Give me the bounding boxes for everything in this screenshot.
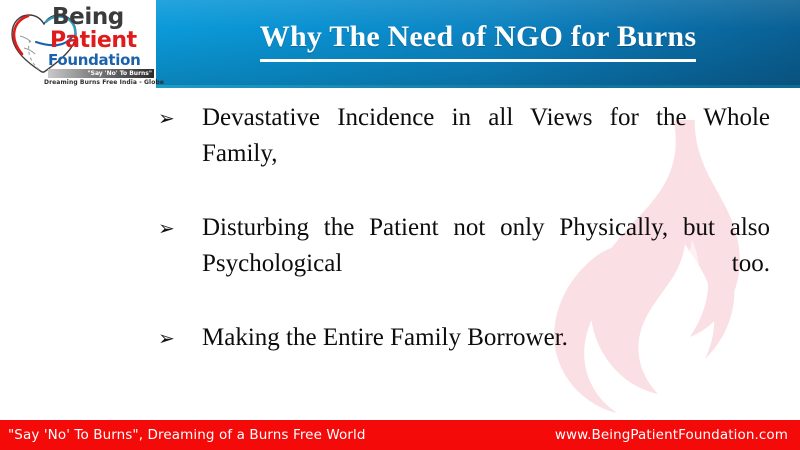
arrow-bullet-icon: ➢ — [158, 320, 202, 356]
logo-slogan-bar: "Say 'No' To Burns" — [48, 69, 154, 78]
logo-tagline: Dreaming Burns Free India - Globe — [44, 79, 156, 86]
brand-logo: Being Patient Foundation "Say 'No' To Bu… — [0, 0, 156, 88]
arrow-bullet-icon: ➢ — [158, 100, 202, 136]
footer-website-url[interactable]: www.BeingPatientFoundation.com — [555, 427, 800, 443]
footer-slogan: "Say 'No' To Burns", Dreaming of a Burns… — [0, 427, 366, 443]
footer-bar: "Say 'No' To Burns", Dreaming of a Burns… — [0, 420, 800, 450]
list-item-text: Disturbing the Patient not only Physical… — [202, 210, 770, 318]
list-item: ➢ Making the Entire Family Borrower. — [158, 320, 770, 356]
list-item-text: Devastative Incidence in all Views for t… — [202, 100, 770, 208]
logo-wordmark: Being Patient Foundation "Say 'No' To Bu… — [40, 6, 156, 86]
slide-canvas: Why The Need of NGO for Burns Being Pati… — [0, 0, 800, 450]
logo-line-patient: Patient — [50, 30, 156, 52]
logo-line-foundation: Foundation — [48, 53, 156, 68]
list-item-text: Making the Entire Family Borrower. — [202, 320, 770, 356]
page-title-text: Why The Need of NGO for Burns — [260, 20, 696, 62]
list-item: ➢ Devastative Incidence in all Views for… — [158, 100, 770, 208]
list-item: ➢ Disturbing the Patient not only Physic… — [158, 210, 770, 318]
arrow-bullet-icon: ➢ — [158, 210, 202, 246]
bullet-list: ➢ Devastative Incidence in all Views for… — [158, 100, 770, 358]
logo-slogan-text: "Say 'No' To Burns" — [88, 69, 153, 78]
page-title: Why The Need of NGO for Burns — [156, 20, 800, 62]
logo-line-being: Being — [52, 6, 156, 29]
